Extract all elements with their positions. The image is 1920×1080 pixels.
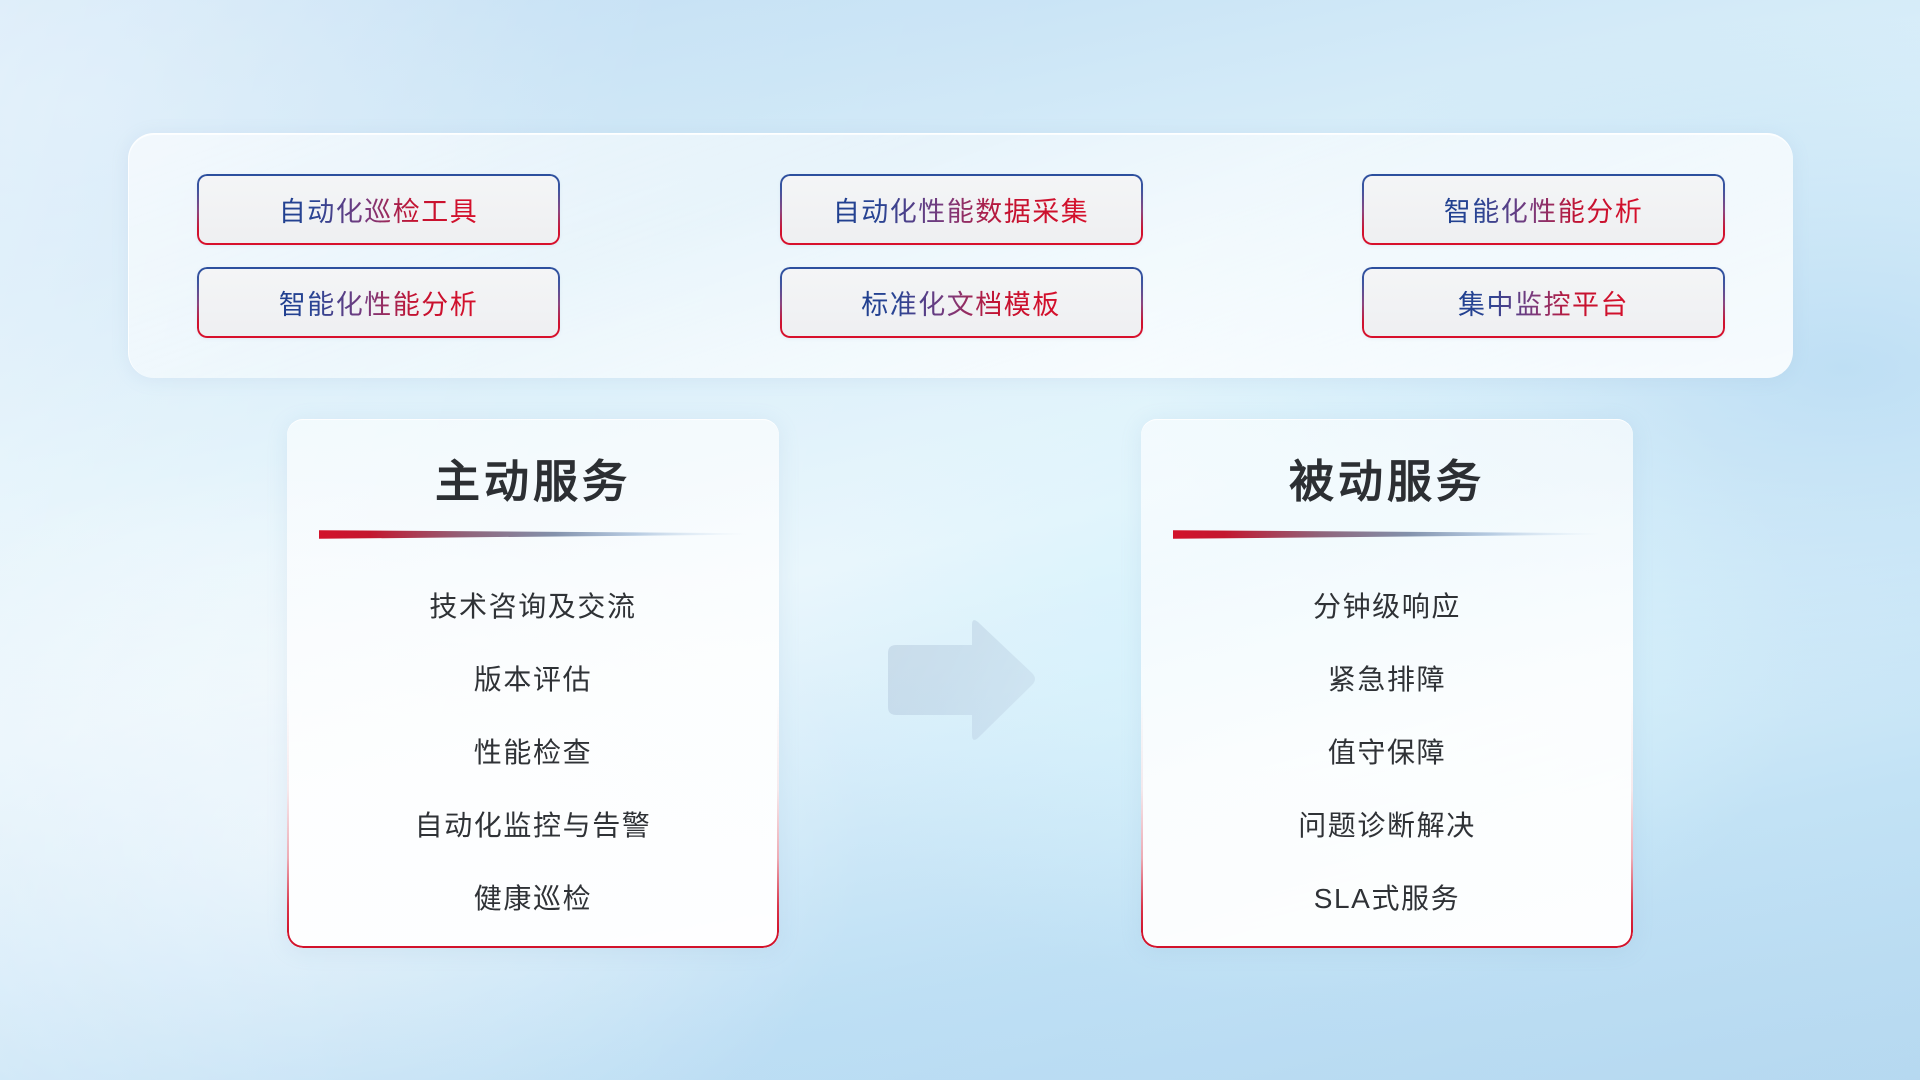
capability-chip-label: 智能化性能分析 xyxy=(279,283,479,322)
capability-chip-intelligent-perf-analysis[interactable]: 智能化性能分析 xyxy=(1362,174,1725,245)
capability-chip-auto-perf-data-collection[interactable]: 自动化性能数据采集 xyxy=(780,174,1143,245)
capability-chip-label: 智能化性能分析 xyxy=(1444,190,1644,229)
list-item: SLA式服务 xyxy=(1314,862,1461,935)
list-item: 技术咨询及交流 xyxy=(429,570,636,643)
card-title: 被动服务 xyxy=(1289,455,1485,508)
capability-chip-label: 自动化性能数据采集 xyxy=(833,190,1090,229)
list-item: 自动化监控与告警 xyxy=(415,789,652,862)
list-item: 值守保障 xyxy=(1328,716,1446,789)
service-card-proactive[interactable]: 主动服务 技术咨询及交流 版本评估 xyxy=(287,419,779,948)
capability-chip-label: 标准化文档模板 xyxy=(861,283,1061,322)
capability-chip-auto-inspection-tool[interactable]: 自动化巡检工具 xyxy=(197,174,560,245)
capability-chip-label: 集中监控平台 xyxy=(1458,283,1629,322)
card-divider xyxy=(1173,528,1601,540)
list-item: 紧急排障 xyxy=(1328,643,1446,716)
capability-chip-central-monitoring-platform[interactable]: 集中监控平台 xyxy=(1362,267,1725,338)
capability-chip-label: 自动化巡检工具 xyxy=(279,190,479,229)
list-item: 健康巡检 xyxy=(474,862,592,935)
list-item: 问题诊断解决 xyxy=(1298,789,1476,862)
card-divider xyxy=(319,528,747,540)
capabilities-panel: 自动化巡检工具 自动化性能数据采集 智能化性能分析 智能化性能分析 标准化文档模… xyxy=(128,133,1793,378)
capability-chip-standard-doc-template[interactable]: 标准化文档模板 xyxy=(780,267,1143,338)
capability-row-2: 智能化性能分析 标准化文档模板 集中监控平台 xyxy=(197,267,1725,338)
card-title: 主动服务 xyxy=(435,455,631,508)
list-item: 分钟级响应 xyxy=(1313,570,1461,643)
list-item: 版本评估 xyxy=(474,643,592,716)
card-item-list: 分钟级响应 紧急排障 值守保障 问题诊断解决 SLA式服务 xyxy=(1141,570,1633,935)
service-card-reactive[interactable]: 被动服务 分钟级响应 紧急排障 xyxy=(1141,419,1633,948)
capability-chip-intelligent-perf-analysis-2[interactable]: 智能化性能分析 xyxy=(197,267,560,338)
list-item: 性能检查 xyxy=(474,716,592,789)
capability-row-1: 自动化巡检工具 自动化性能数据采集 智能化性能分析 xyxy=(197,174,1725,245)
arrow-right-icon xyxy=(880,615,1040,747)
card-item-list: 技术咨询及交流 版本评估 性能检查 自动化监控与告警 健康巡检 xyxy=(287,570,779,935)
